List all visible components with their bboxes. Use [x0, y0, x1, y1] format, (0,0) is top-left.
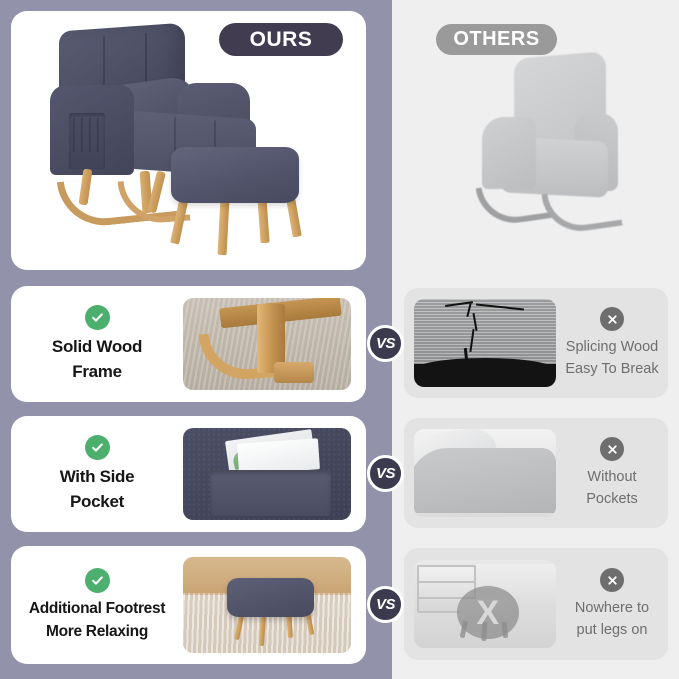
feature-label-line1: Solid Wood — [52, 337, 142, 358]
x-circle-icon — [600, 437, 624, 461]
feature-text-block: With Side Pocket — [11, 435, 183, 512]
drawback-row-without-pockets: Without Pockets — [404, 418, 668, 528]
drawback-label-line2: Pockets — [586, 490, 638, 509]
vs-badge-2: VS — [367, 455, 404, 492]
no-footrest-photo: X — [414, 560, 556, 648]
feature-row-solid-wood-frame: Solid Wood Frame — [11, 286, 366, 402]
check-circle-icon — [85, 568, 110, 593]
drawback-text-block: Without Pockets — [556, 437, 668, 509]
feature-row-side-pocket: With Side Pocket — [11, 416, 366, 532]
drawback-label-line2: put legs on — [577, 621, 648, 640]
solid-wood-frame-photo — [183, 298, 351, 390]
feature-label-line2: Frame — [72, 362, 122, 383]
drawback-label-line1: Splicing Wood — [566, 338, 658, 357]
others-chair-illustration — [452, 53, 652, 253]
side-pocket-photo — [183, 428, 351, 520]
feature-text-block: Additional Footrest More Relaxing — [11, 568, 183, 642]
drawback-row-splicing-wood: Splicing Wood Easy To Break — [404, 288, 668, 398]
vs-badge-1: VS — [367, 325, 404, 362]
ours-chair-illustration — [23, 21, 313, 270]
comparison-infographic: OURS OTHERS Solid Wood Frame — [0, 0, 679, 679]
drawback-label-line1: Without — [587, 468, 636, 487]
feature-text-block: Solid Wood Frame — [11, 305, 183, 382]
drawback-text-block: Nowhere to put legs on — [556, 568, 668, 640]
feature-label-line2: Pocket — [70, 492, 124, 513]
drawback-label-line2: Easy To Break — [565, 360, 658, 379]
vs-badge-3: VS — [367, 586, 404, 623]
feature-row-additional-footrest: Additional Footrest More Relaxing — [11, 546, 366, 664]
cracked-wood-photo — [414, 299, 556, 387]
x-circle-icon — [600, 307, 624, 331]
x-circle-icon — [600, 568, 624, 592]
check-circle-icon — [85, 305, 110, 330]
feature-label-line1: Additional Footrest — [29, 600, 165, 619]
feature-label-line1: With Side — [60, 467, 135, 488]
drawback-text-block: Splicing Wood Easy To Break — [556, 307, 668, 379]
ours-badge: OURS — [219, 23, 343, 56]
drawback-label-line1: Nowhere to — [575, 599, 649, 618]
no-pocket-photo — [414, 429, 556, 517]
big-x-overlay-icon: X — [457, 586, 519, 639]
feature-label-line2: More Relaxing — [46, 623, 148, 642]
check-circle-icon — [85, 435, 110, 460]
others-badge: OTHERS — [436, 24, 557, 55]
footrest-photo — [183, 557, 351, 653]
drawback-row-nowhere-legs: X Nowhere to put legs on — [404, 548, 668, 660]
